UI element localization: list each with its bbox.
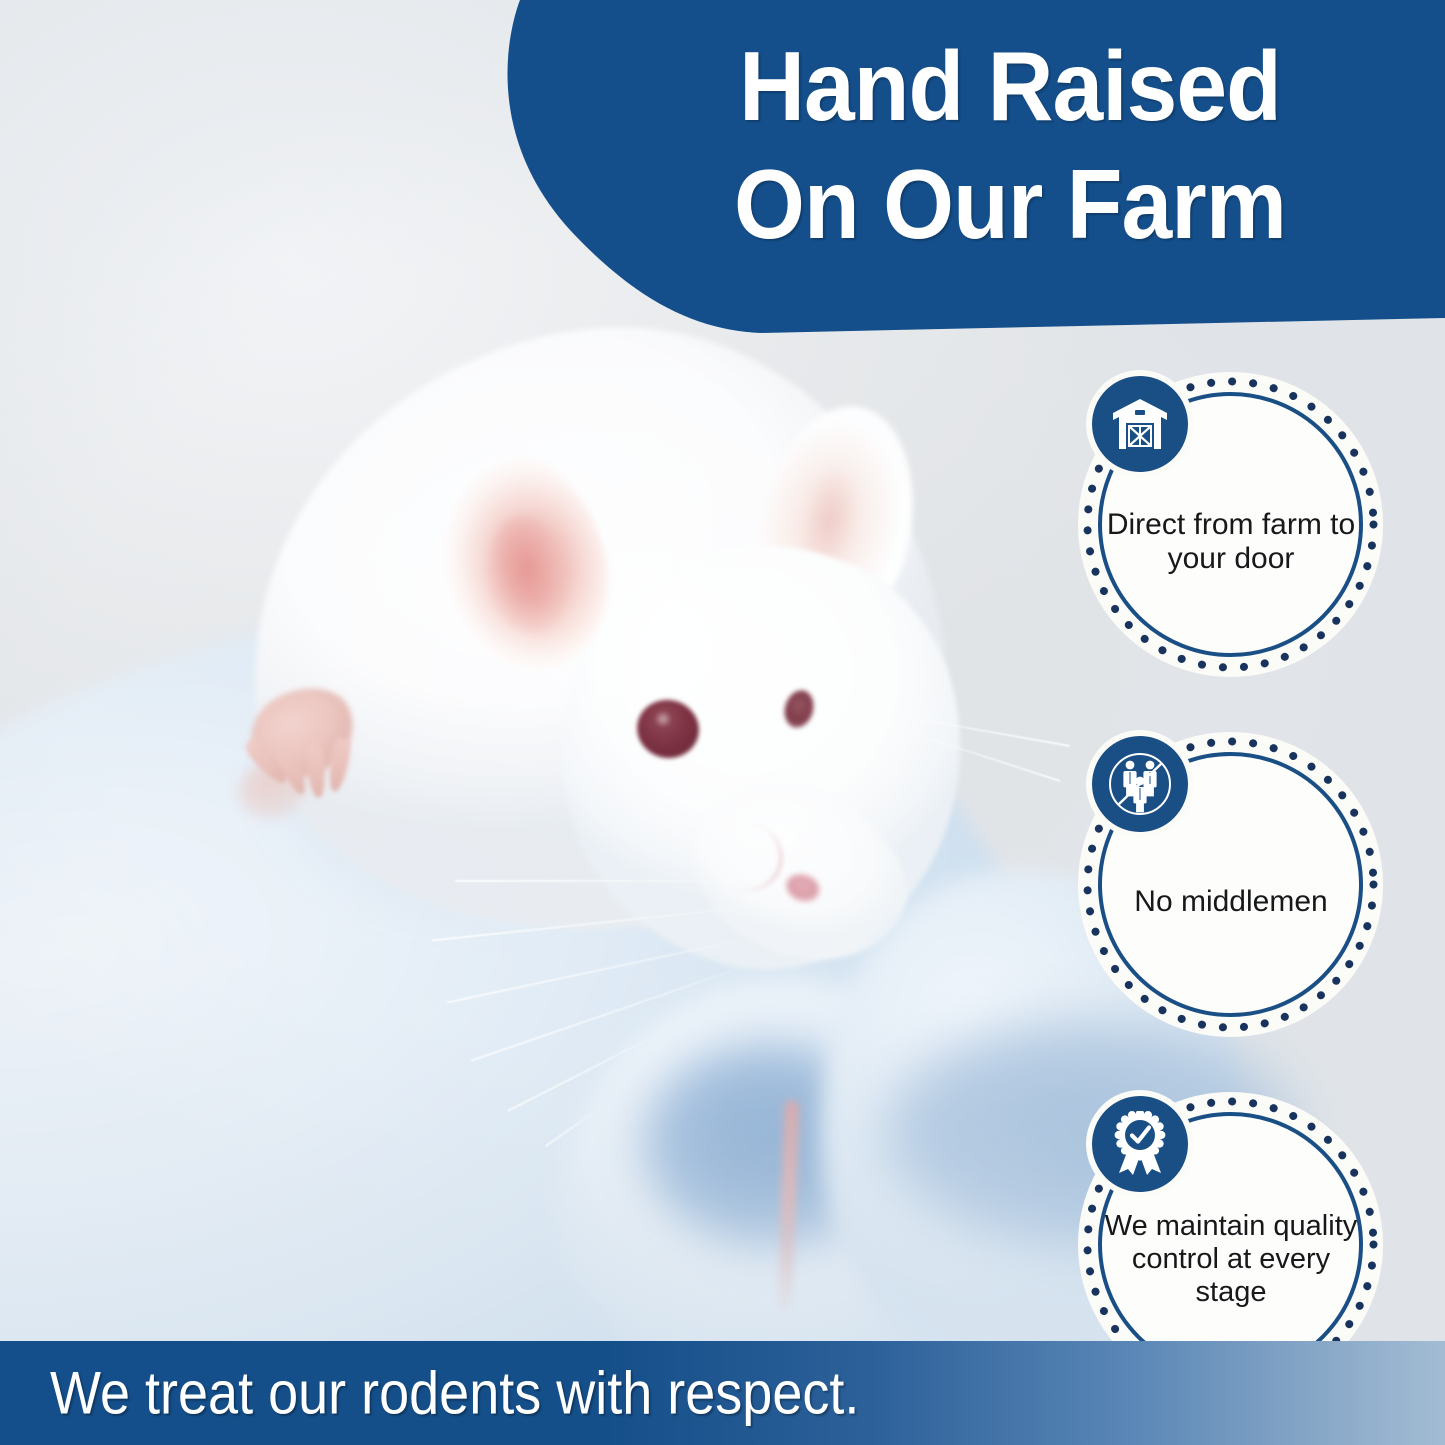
bottom-banner-text: We treat our rodents with respect. [50, 1359, 859, 1428]
mouse-whisker [455, 880, 765, 882]
feature-badge-no-middlemen[interactable]: No middlemen [1078, 732, 1383, 1037]
poster-root: Hand Raised On Our Farm Direct from farm… [0, 0, 1445, 1445]
feature-badge-farm[interactable]: Direct from farm to your door [1078, 372, 1383, 677]
quality-rosette-icon [1086, 1090, 1194, 1198]
badge-label-text: We maintain quality control at every sta… [1102, 1210, 1360, 1308]
no-middlemen-icon [1086, 730, 1194, 838]
mouse-eye-highlight [654, 712, 672, 726]
feature-badge-list: Direct from farm to your door [1060, 0, 1445, 1445]
bottom-banner: We treat our rodents with respect. [0, 1341, 1445, 1445]
barn-icon [1086, 370, 1194, 478]
badge-label-text: No middlemen [1134, 885, 1327, 919]
badge-label-text: Direct from farm to your door [1102, 508, 1360, 576]
